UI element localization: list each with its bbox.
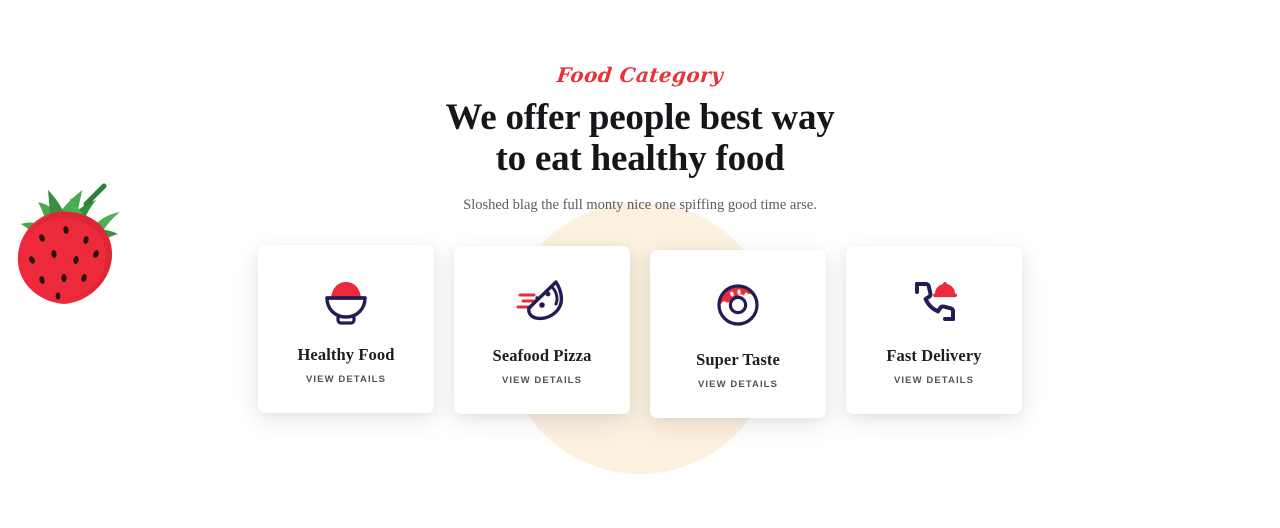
category-card-title: Seafood Pizza bbox=[493, 346, 592, 366]
section-eyebrow: Food Category bbox=[555, 62, 724, 88]
category-card-healthy-food[interactable]: Healthy Food VIEW DETAILS bbox=[258, 245, 434, 413]
view-details-link[interactable]: VIEW DETAILS bbox=[698, 378, 778, 391]
category-card-title: Super Taste bbox=[696, 350, 780, 370]
category-card-fast-delivery[interactable]: Fast Delivery VIEW DETAILS bbox=[846, 246, 1022, 414]
category-card-title: Healthy Food bbox=[298, 345, 395, 365]
headline-line-2: to eat healthy food bbox=[0, 138, 1280, 179]
section-header: Food Category We offer people best way t… bbox=[0, 0, 1280, 215]
headline-line-1: We offer people best way bbox=[0, 97, 1280, 138]
page-title: We offer people best way to eat healthy … bbox=[0, 97, 1280, 179]
donut-icon bbox=[711, 278, 765, 332]
rice-bowl-icon bbox=[319, 273, 373, 327]
category-card-super-taste[interactable]: Super Taste VIEW DETAILS bbox=[650, 250, 826, 418]
view-details-link[interactable]: VIEW DETAILS bbox=[306, 373, 386, 386]
category-card-list: Healthy Food VIEW DETAILS Seafood Pizza … bbox=[0, 244, 1280, 418]
view-details-link[interactable]: VIEW DETAILS bbox=[894, 374, 974, 387]
pizza-slice-icon bbox=[515, 274, 569, 328]
view-details-link[interactable]: VIEW DETAILS bbox=[502, 374, 582, 387]
category-card-seafood-pizza[interactable]: Seafood Pizza VIEW DETAILS bbox=[454, 246, 630, 414]
section-subtitle: Sloshed blag the full monty nice one spi… bbox=[0, 195, 1280, 215]
category-card-title: Fast Delivery bbox=[886, 346, 981, 366]
phone-delivery-icon bbox=[907, 274, 961, 328]
